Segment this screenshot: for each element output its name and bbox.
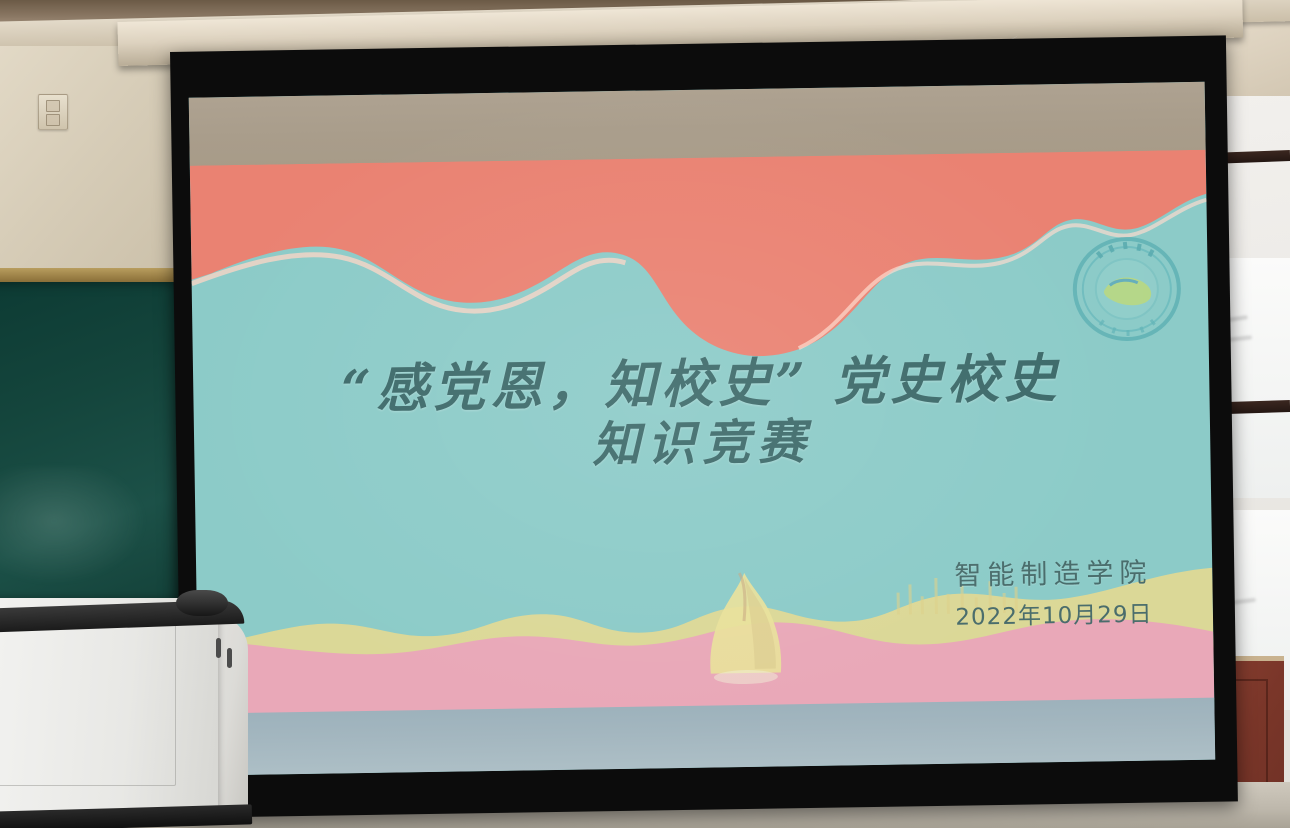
projected-slide: “感党恩，知校史” 党史校史 知识竞赛 智能制造学院 2022年10月29日 [189,82,1216,776]
event-date: 2022年10月29日 [955,595,1154,632]
podium-knob[interactable] [176,590,228,616]
classroom-scene: ThreeStars [0,0,1290,828]
wall-power-outlet[interactable] [38,94,68,130]
organization-name: 智能制造学院 [954,551,1153,593]
coral-wave-icon [190,150,1209,366]
university-emblem [1071,234,1183,344]
lectern-podium[interactable] [0,590,260,828]
pagoda-silhouette [689,568,801,690]
podium-panel [0,616,176,786]
slide-subtitle-block: 智能制造学院 2022年10月29日 [954,551,1153,632]
university-emblem-icon [1071,234,1183,344]
slide-title-line2: 知识竞赛 [194,404,1211,482]
slide-title-block: “感党恩，知校史” 党史校史 知识竞赛 [193,350,1211,483]
chalk-residue [0,467,150,587]
coral-wave-shape [190,150,1209,366]
projector-screen: “感党恩，知校史” 党史校史 知识竞赛 智能制造学院 2022年10月29日 [170,35,1238,817]
podium-vent-slots [216,638,234,684]
green-chalkboard [0,282,190,612]
pagoda-icon [689,568,801,690]
